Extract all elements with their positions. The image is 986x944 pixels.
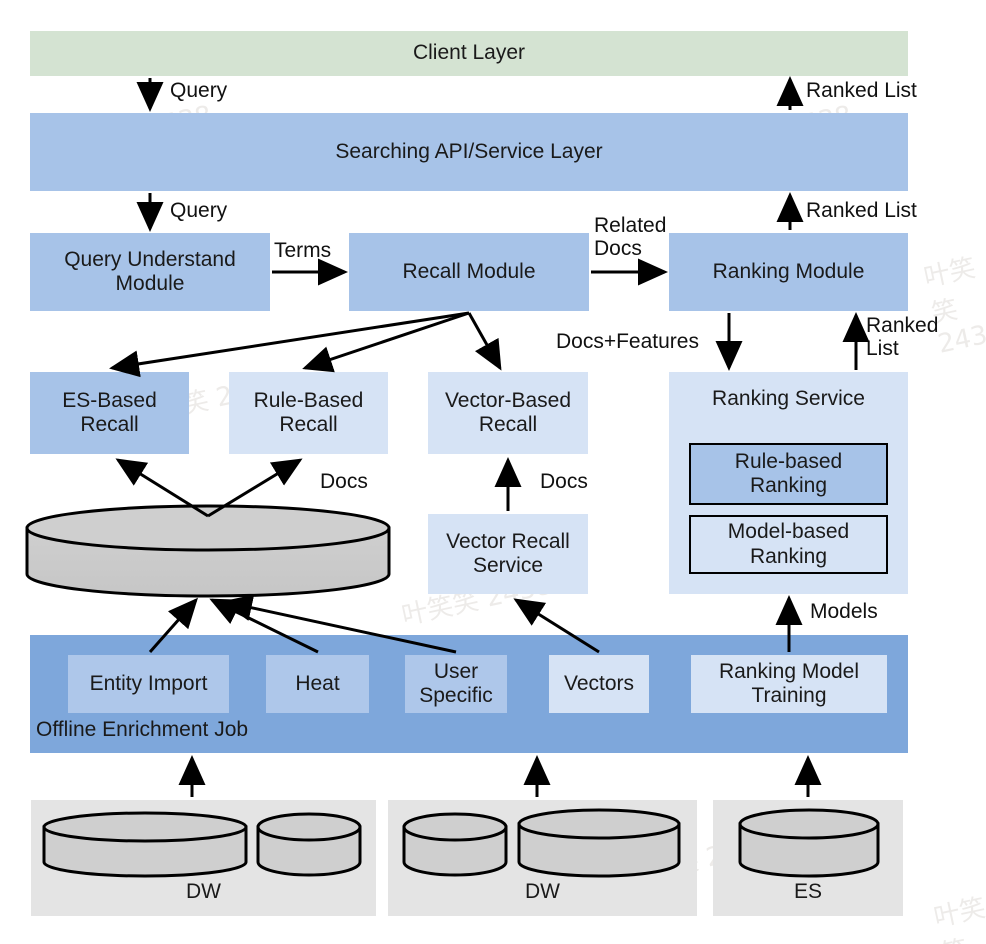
store-group-es[interactable]: [713, 800, 903, 916]
ranking-service-title: Ranking Service: [669, 383, 908, 415]
es-based-recall[interactable]: ES-Based Recall: [30, 372, 189, 454]
query-understand-module[interactable]: Query Understand Module: [30, 233, 270, 311]
edge-label-related-docs: Related Docs: [594, 214, 666, 260]
offline-job-user-specific[interactable]: User Specific: [405, 655, 507, 713]
model-based-ranking[interactable]: Model-based Ranking: [689, 515, 888, 574]
edge-label-ranked-list-top: Ranked List: [806, 79, 917, 102]
offline-job-entity-import[interactable]: Entity Import: [68, 655, 229, 713]
offline-job-ranking-model-training[interactable]: Ranking Model Training: [691, 655, 887, 713]
client-layer-band[interactable]: Client Layer: [30, 31, 908, 76]
vector-based-recall[interactable]: Vector-Based Recall: [428, 372, 588, 454]
edge-label-docs-vector: Docs: [540, 470, 588, 493]
edge-label-query-mid: Query: [170, 199, 227, 222]
store-group-dw-1[interactable]: [31, 800, 376, 916]
searching-api-service-layer-band[interactable]: Searching API/Service Layer: [30, 113, 908, 191]
rule-based-recall[interactable]: Rule-Based Recall: [229, 372, 388, 454]
edge-label-ranked-list-service: Ranked List: [866, 314, 938, 360]
edge-label-query-top: Query: [170, 79, 227, 102]
offline-job-heat[interactable]: Heat: [266, 655, 369, 713]
ranking-module[interactable]: Ranking Module: [669, 233, 908, 311]
edge-label-docs-es: Docs: [320, 470, 368, 493]
watermark: 叶笑笑 2438: [930, 884, 986, 944]
edge-label-docs-features: Docs+Features: [556, 330, 699, 353]
architecture-diagram: 叶笑笑 2438 叶笑笑 2438 叶笑笑 2438 叶笑笑 2438 叶笑笑 …: [0, 0, 986, 944]
store-group-dw-2[interactable]: [388, 800, 697, 916]
rule-based-ranking[interactable]: Rule-based Ranking: [689, 443, 888, 505]
edge-label-terms: Terms: [274, 239, 331, 262]
edge-label-ranked-list-mid: Ranked List: [806, 199, 917, 222]
cylinder-label-es-main: ES: [27, 552, 390, 578]
offline-job-vectors[interactable]: Vectors: [549, 655, 649, 713]
recall-module[interactable]: Recall Module: [349, 233, 589, 311]
vector-recall-service[interactable]: Vector Recall Service: [428, 514, 588, 594]
offline-enrichment-label: Offline Enrichment Job: [36, 715, 436, 745]
edge-label-models: Models: [810, 600, 878, 623]
